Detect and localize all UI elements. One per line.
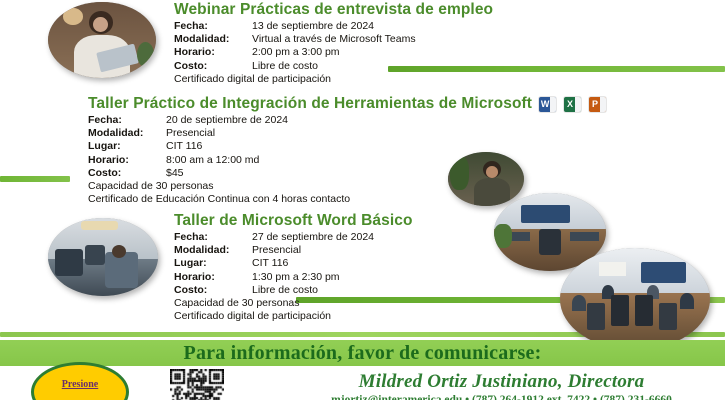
flyer-page: Webinar Prácticas de entrevista de emple…: [0, 0, 725, 400]
detail-label: Fecha:: [88, 114, 166, 127]
director-name: Mildred Ortiz Justiniano, Directora: [278, 371, 725, 393]
detail-value: Presencial: [166, 127, 215, 140]
event-title: Taller de Microsoft Word Básico: [174, 212, 413, 230]
detail-value: 1:30 pm a 2:30 pm: [252, 271, 340, 284]
event-title: Taller Práctico de Integración de Herram…: [88, 95, 532, 113]
detail-value: Virtual a través de Microsoft Teams: [252, 33, 416, 46]
photo-woman-laptop: [48, 2, 156, 78]
detail-label: Lugar:: [88, 140, 166, 153]
press-button[interactable]: Presione: [31, 362, 129, 400]
detail-value: 2:00 pm a 3:00 pm: [252, 46, 340, 59]
event-note: Certificado digital de participación: [174, 73, 493, 86]
event-detail-list: Fecha: 27 de septiembre de 2024 Modalida…: [174, 231, 413, 323]
detail-row: Modalidad: Presencial: [174, 244, 413, 257]
detail-row: Fecha: 13 de septiembre de 2024: [174, 20, 493, 33]
detail-value: Libre de costo: [252, 60, 318, 73]
event-note: Capacidad de 30 personas: [88, 180, 606, 193]
detail-row: Modalidad: Virtual a través de Microsoft…: [174, 33, 493, 46]
director-block: Mildred Ortiz Justiniano, Directora mjor…: [278, 371, 725, 400]
detail-row: Costo: $45: [88, 167, 606, 180]
photo-office-worker: [48, 218, 158, 296]
event-title-row: Taller de Microsoft Word Básico: [174, 212, 413, 230]
contact-banner: Para información, favor de comunicarse:: [0, 340, 725, 366]
detail-label: Modalidad:: [174, 244, 252, 257]
event-title-row: Taller Práctico de Integración de Herram…: [88, 95, 606, 113]
detail-value: Libre de costo: [252, 284, 318, 297]
detail-row: Costo: Libre de costo: [174, 60, 493, 73]
detail-label: Modalidad:: [174, 33, 252, 46]
detail-row: Costo: Libre de costo: [174, 284, 413, 297]
detail-label: Fecha:: [174, 20, 252, 33]
detail-label: Costo:: [174, 60, 252, 73]
event-taller-word-basico: Taller de Microsoft Word Básico Fecha: 2…: [174, 212, 413, 323]
detail-row: Modalidad: Presencial: [88, 127, 606, 140]
event-detail-list: Fecha: 20 de septiembre de 2024 Modalida…: [88, 114, 606, 206]
detail-value: 13 de septiembre de 2024: [252, 20, 374, 33]
detail-value: 8:00 am a 12:00 md: [166, 154, 259, 167]
contact-banner-text: Para información, favor de comunicarse:: [184, 342, 542, 365]
detail-label: Lugar:: [174, 257, 252, 270]
detail-value: 27 de septiembre de 2024: [252, 231, 374, 244]
excel-icon: X: [564, 97, 581, 112]
event-note: Capacidad de 30 personas: [174, 297, 413, 310]
detail-value: Presencial: [252, 244, 301, 257]
detail-label: Horario:: [88, 154, 166, 167]
powerpoint-icon: P: [589, 97, 606, 112]
event-title-row: Webinar Prácticas de entrevista de emple…: [174, 1, 493, 19]
detail-value: 20 de septiembre de 2024: [166, 114, 288, 127]
event-webinar-practicas: Webinar Prácticas de entrevista de emple…: [174, 1, 493, 86]
detail-row: Horario: 8:00 am a 12:00 md: [88, 154, 606, 167]
press-button-label: Presione: [62, 379, 98, 390]
detail-row: Lugar: CIT 116: [174, 257, 413, 270]
detail-row: Horario: 2:00 pm a 3:00 pm: [174, 46, 493, 59]
detail-value: CIT 116: [252, 257, 288, 270]
detail-row: Horario: 1:30 pm a 2:30 pm: [174, 271, 413, 284]
detail-label: Horario:: [174, 271, 252, 284]
detail-label: Modalidad:: [88, 127, 166, 140]
detail-label: Costo:: [174, 284, 252, 297]
director-contact-line: mjortiz@interamerica.edu • (787) 264-191…: [278, 394, 725, 400]
detail-value: $45: [166, 167, 184, 180]
detail-label: Horario:: [174, 46, 252, 59]
detail-label: Fecha:: [174, 231, 252, 244]
event-taller-integracion: Taller Práctico de Integración de Herram…: [88, 95, 606, 206]
detail-row: Fecha: 20 de septiembre de 2024: [88, 114, 606, 127]
detail-value: CIT 116: [166, 140, 202, 153]
photo-classroom-large: [560, 248, 710, 350]
word-icon: W: [539, 97, 556, 112]
office-app-icons: W X P: [539, 97, 606, 112]
decorative-bar-left: [0, 176, 70, 182]
detail-row: Fecha: 27 de septiembre de 2024: [174, 231, 413, 244]
event-note: Certificado digital de participación: [174, 310, 413, 323]
detail-row: Lugar: CIT 116: [88, 140, 606, 153]
event-title: Webinar Prácticas de entrevista de emple…: [174, 1, 493, 19]
event-note: Certificado de Educación Continua con 4 …: [88, 193, 606, 206]
event-detail-list: Fecha: 13 de septiembre de 2024 Modalida…: [174, 20, 493, 86]
detail-label: Costo:: [88, 167, 166, 180]
qr-code[interactable]: [170, 369, 224, 400]
